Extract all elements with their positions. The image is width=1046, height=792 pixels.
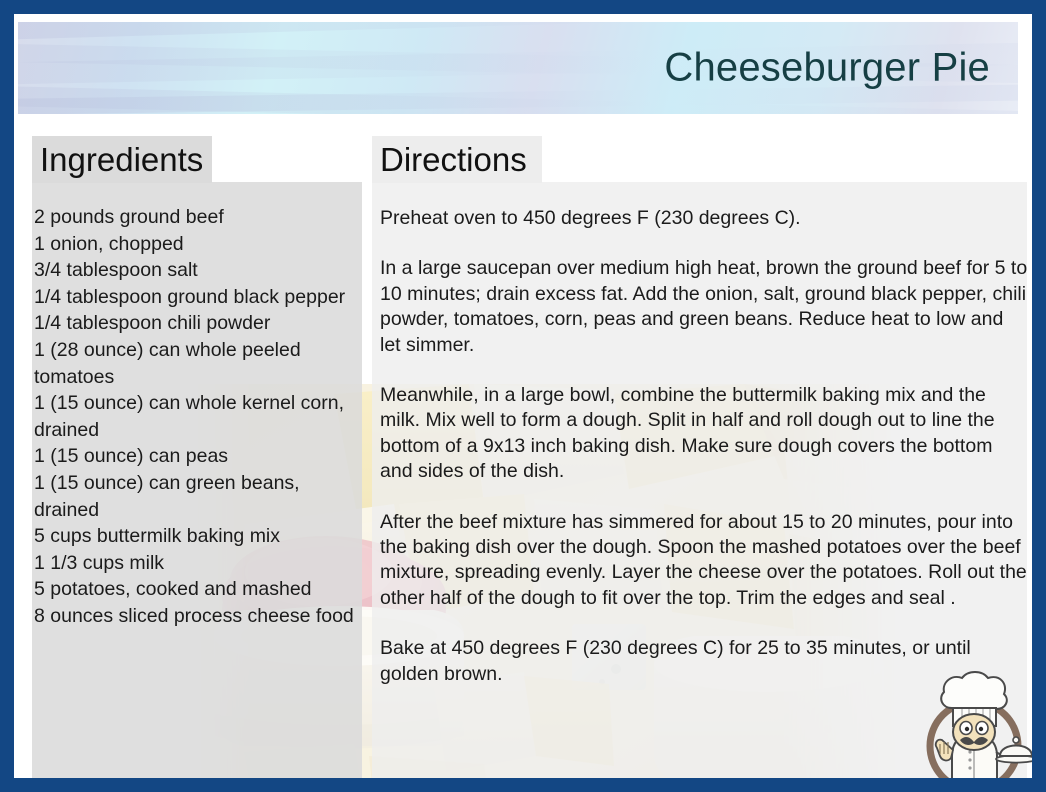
list-item: 5 potatoes, cooked and mashed — [34, 576, 354, 603]
list-item: 5 cups buttermilk baking mix — [34, 523, 354, 550]
list-item: 1 (15 ounce) can whole kernel corn, drai… — [34, 390, 354, 443]
page-title: Cheeseburger Pie — [664, 46, 990, 91]
list-item: 1 onion, chopped — [34, 231, 354, 258]
list-item: 1 (15 ounce) can green beans, drained — [34, 470, 354, 523]
list-item: 1/4 tablespoon ground black pepper — [34, 284, 354, 311]
direction-step: Bake at 450 degrees F (230 degrees C) fo… — [380, 636, 1028, 687]
list-item: 1 (15 ounce) can peas — [34, 443, 354, 470]
direction-step: Meanwhile, in a large bowl, combine the … — [380, 383, 1028, 485]
list-item: 1/4 tablespoon chili powder — [34, 310, 354, 337]
list-item: 1 1/3 cups milk — [34, 550, 354, 577]
banner-wave-decoration — [18, 22, 1018, 42]
directions-body: Preheat oven to 450 degrees F (230 degre… — [380, 206, 1028, 687]
direction-step: In a large saucepan over medium high hea… — [380, 256, 1028, 358]
recipe-slide: Cheeseburger Pie — [0, 0, 1046, 792]
ingredients-list: 2 pounds ground beef 1 onion, chopped 3/… — [34, 204, 354, 630]
list-item: 8 ounces sliced process cheese food — [34, 603, 354, 630]
list-item: 3/4 tablespoon salt — [34, 257, 354, 284]
direction-step: Preheat oven to 450 degrees F (230 degre… — [380, 206, 1028, 231]
list-item: 2 pounds ground beef — [34, 204, 354, 231]
directions-heading: Directions — [372, 136, 542, 183]
direction-step: After the beef mixture has simmered for … — [380, 510, 1028, 612]
list-item: 1 (28 ounce) can whole peeled tomatoes — [34, 337, 354, 390]
header-banner: Cheeseburger Pie — [18, 22, 1018, 114]
ingredients-heading: Ingredients — [32, 136, 212, 183]
